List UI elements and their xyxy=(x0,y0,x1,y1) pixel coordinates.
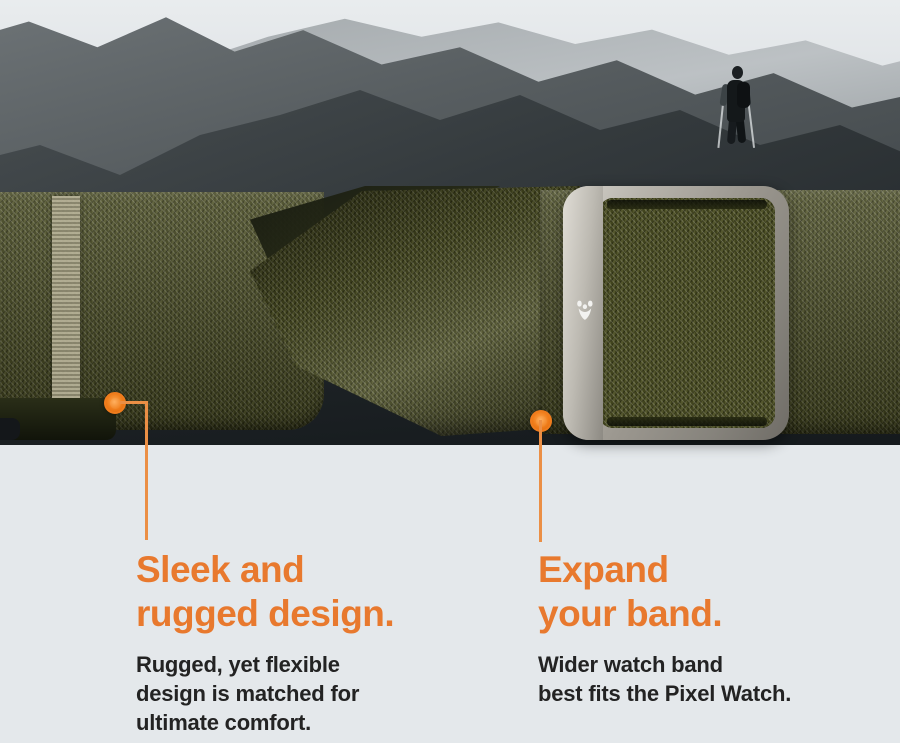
callout-sleek: Sleek and rugged design. Rugged, yet fle… xyxy=(136,548,466,737)
spigen-logo xyxy=(575,298,595,322)
bracket-slot-bottom xyxy=(607,417,767,426)
product-feature-graphic: Sleek and rugged design. Rugged, yet fle… xyxy=(0,0,900,743)
callout-expand-body-line2: best fits the Pixel Watch. xyxy=(538,681,791,706)
band-stitching-stripe xyxy=(52,196,80,408)
callout-sleek-heading: Sleek and rugged design. xyxy=(136,548,466,636)
callout-sleek-body-line2: design is matched for xyxy=(136,681,359,706)
callout-sleek-body-line3: ultimate comfort. xyxy=(136,710,311,735)
callout-expand-body-line1: Wider watch band xyxy=(538,652,723,677)
bracket-slot-top xyxy=(607,200,767,209)
leader-line-sleek-vertical xyxy=(145,401,148,540)
bracket-window xyxy=(599,198,775,428)
callout-expand-heading-line2: your band. xyxy=(538,593,722,634)
watch-lug-left xyxy=(0,418,20,440)
watch-band-assembly xyxy=(0,0,900,460)
callout-expand-heading: Expand your band. xyxy=(538,548,868,636)
metal-clasp-bracket xyxy=(563,186,789,440)
callout-sleek-body: Rugged, yet flexible design is matched f… xyxy=(136,650,466,737)
callout-expand: Expand your band. Wider watch band best … xyxy=(538,548,868,708)
leader-line-sleek-horizontal xyxy=(120,401,148,404)
callout-sleek-body-line1: Rugged, yet flexible xyxy=(136,652,340,677)
bracket-band-weave xyxy=(599,198,775,428)
leader-line-expand-vertical xyxy=(539,420,542,542)
callout-sleek-heading-line1: Sleek and xyxy=(136,549,304,590)
callout-expand-heading-line1: Expand xyxy=(538,549,669,590)
callout-expand-body: Wider watch band best fits the Pixel Wat… xyxy=(538,650,868,708)
callout-sleek-heading-line2: rugged design. xyxy=(136,593,394,634)
